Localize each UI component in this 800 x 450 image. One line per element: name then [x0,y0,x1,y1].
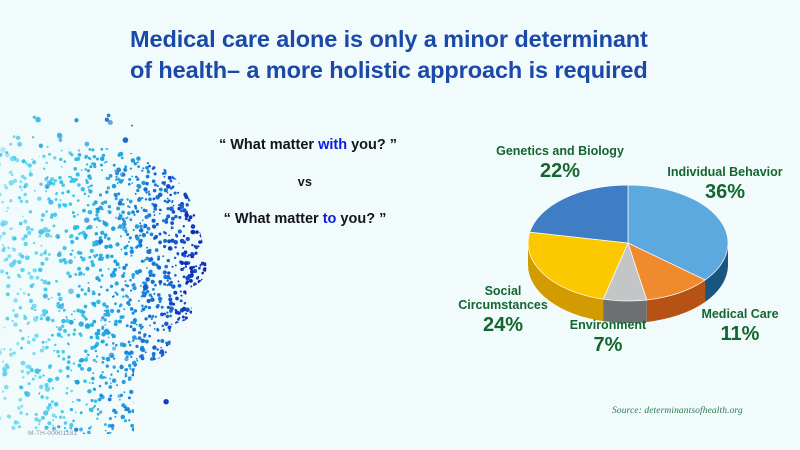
quote-line-1: “ What matter with you? ” [186,138,430,154]
pie-label-social-circumstances: Social Circumstances 24% [444,284,562,336]
quote-1-pre: “ What matter [219,137,318,153]
page-title: Medical care alone is only a minor deter… [130,24,730,86]
pie-label-medical-value: 11% [680,323,800,345]
page-title-line-1: Medical care alone is only a minor deter… [130,24,730,55]
pie-label-individual-behavior: Individual Behavior 36% [650,165,800,203]
pie-label-social-value: 24% [444,314,562,336]
quote-2-accent: to [323,211,337,227]
page-title-line-2: of health– a more holistic approach is r… [130,55,730,86]
quote-block: “ What matter with you? ” vs “ What matt… [180,138,430,228]
quote-separator: vs [180,176,430,190]
source-attribution: Source: determinantsofhealth.org [612,406,743,416]
pie-label-environment: Environment 7% [548,318,668,356]
slide-canvas: Medical care alone is only a minor deter… [0,0,800,450]
quote-2-pre: “ What matter [224,211,323,227]
pie-label-genetics-value: 22% [480,160,640,182]
pie-label-genetics-name: Genetics and Biology [480,144,640,158]
quote-line-2: “ What matter to you? ” [180,212,430,228]
pie-label-individual-value: 36% [650,181,800,203]
quote-1-post: you? ” [347,137,397,153]
document-code-watermark: M-TH-00001181 [28,430,77,437]
pie-label-medical-name: Medical Care [680,307,800,321]
pie-label-individual-name: Individual Behavior [650,165,800,179]
pie-label-medical-care: Medical Care 11% [680,307,800,345]
quote-1-accent: with [318,137,347,153]
pie-label-environment-value: 7% [548,334,668,356]
pie-label-environment-name: Environment [548,318,668,332]
pie-label-genetics-and-biology: Genetics and Biology 22% [480,144,640,182]
pie-label-social-name: Social Circumstances [444,284,562,312]
quote-2-post: you? ” [336,211,386,227]
